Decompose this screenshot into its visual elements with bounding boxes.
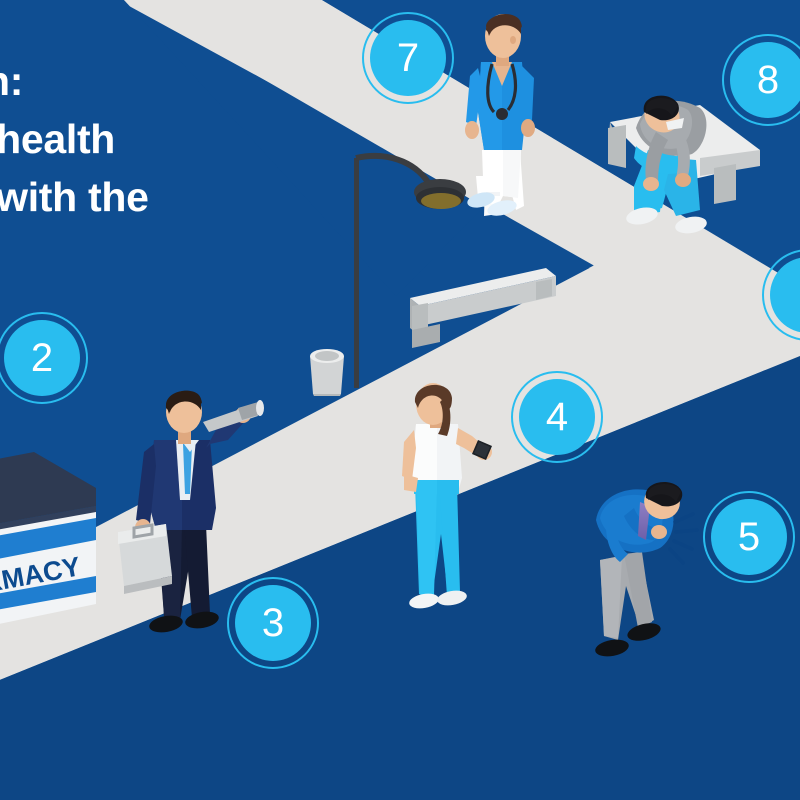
marker-2[interactable]: 2 <box>0 312 88 404</box>
marker-3[interactable]: 3 <box>227 577 319 669</box>
marker-disc: 7 <box>370 20 446 96</box>
isometric-city-scene: HARMACY <box>0 0 800 800</box>
marker-number: 7 <box>397 38 419 78</box>
marker-5[interactable]: 5 <box>703 491 795 583</box>
marker-disc: 2 <box>4 320 80 396</box>
marker-number: 8 <box>757 60 779 100</box>
marker-disc: 5 <box>711 499 787 575</box>
marker-number: 5 <box>738 517 760 557</box>
infographic-canvas: HARMACY <box>0 0 800 800</box>
marker-disc: 3 <box>235 585 311 661</box>
marker-number: 4 <box>546 397 568 437</box>
marker-4[interactable]: 4 <box>511 371 603 463</box>
marker-disc: 4 <box>519 379 595 455</box>
marker-disc: 8 <box>730 42 800 118</box>
marker-number: 2 <box>31 338 53 378</box>
trash-bin <box>310 349 344 396</box>
marker-number: 3 <box>262 603 284 643</box>
marker-7[interactable]: 7 <box>362 12 454 104</box>
